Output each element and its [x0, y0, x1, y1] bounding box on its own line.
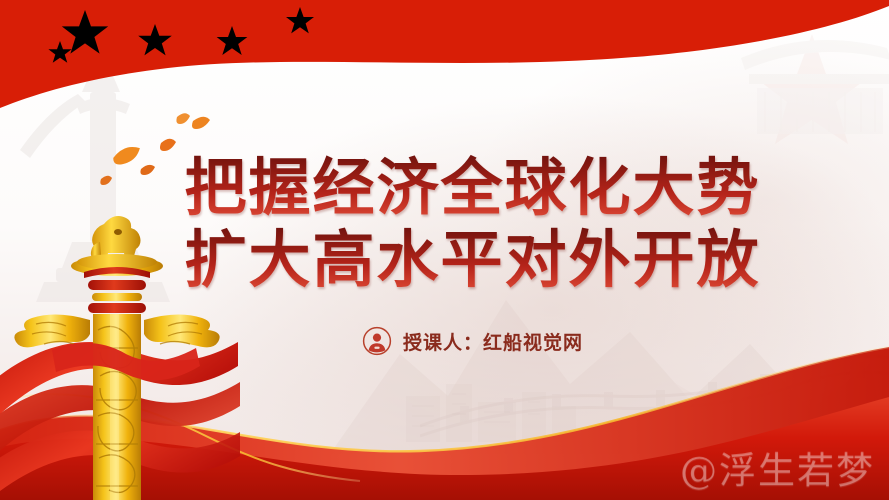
- cover-slide: 把握经济全球化大势 扩大高水平对外开放 授课人：红船视觉网 @浮生若梦: [0, 0, 889, 500]
- person-avatar-icon: [362, 326, 392, 356]
- petal-3: [160, 139, 176, 151]
- presenter-label: 授课人：红船视觉网: [403, 328, 583, 355]
- column-red-ring-2: [88, 303, 146, 313]
- title-line-1: 把握经济全球化大势: [56, 152, 889, 224]
- watermark: @浮生若梦: [680, 440, 875, 494]
- title-block: 把握经济全球化大势 扩大高水平对外开放: [0, 152, 889, 296]
- title-line-2: 扩大高水平对外开放: [56, 224, 889, 296]
- petal-5: [192, 117, 210, 129]
- petal-4: [176, 113, 190, 124]
- presenter-row: 授课人：红船视觉网: [0, 326, 889, 356]
